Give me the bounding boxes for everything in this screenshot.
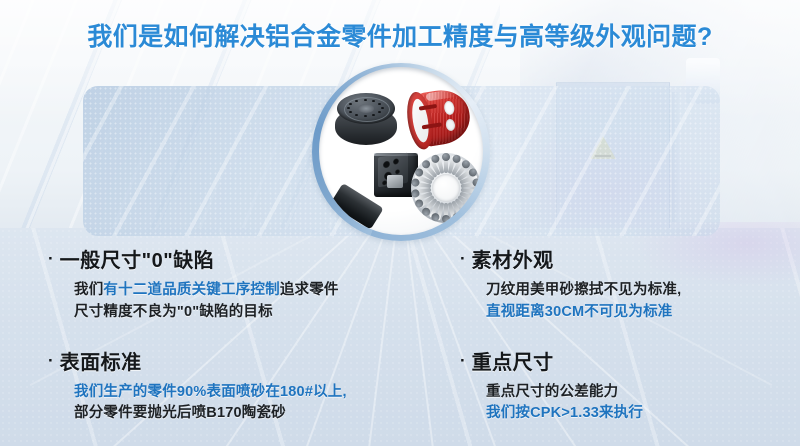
content-block: ·重点尺寸重点尺寸的公差能力我们按CPK>1.33来执行 — [460, 346, 800, 426]
content-block: ·表面标准我们生产的零件90%表面喷砂在180#以上,部分零件要抛光后喷B170… — [48, 346, 408, 426]
block-body-text: 重点尺寸的公差能力我们按CPK>1.33来执行 — [486, 382, 800, 426]
body-line: 我们按CPK>1.33来执行 — [486, 403, 800, 425]
block-heading: 重点尺寸 — [472, 346, 554, 375]
content-block: ·一般尺寸"0"缺陷我们有十二道品质关键工序控制追求零件尺寸精度不良为"0"缺陷… — [48, 244, 408, 324]
text-segment: 刀纹用美甲砂擦拭不见为标准, — [486, 282, 681, 298]
body-line: 部分零件要抛光后喷B170陶瓷砂 — [74, 403, 408, 425]
circle-photo-area — [319, 67, 483, 235]
block-heading: 表面标准 — [60, 346, 142, 375]
left-column: ·一般尺寸"0"缺陷我们有十二道品质关键工序控制追求零件尺寸精度不良为"0"缺陷… — [48, 244, 408, 439]
body-line: 我们有十二道品质关键工序控制追求零件 — [74, 280, 408, 302]
text-segment: 部分零件要抛光后喷B170陶瓷砂 — [74, 405, 286, 421]
block-heading-row: ·表面标准 — [48, 346, 408, 375]
content-columns: ·一般尺寸"0"缺陷我们有十二道品质关键工序控制追求零件尺寸精度不良为"0"缺陷… — [0, 244, 800, 444]
text-segment: 我们按CPK>1.33来执行 — [486, 405, 643, 421]
block-heading-row: ·素材外观 — [460, 244, 800, 273]
block-body-text: 我们生产的零件90%表面喷砂在180#以上,部分零件要抛光后喷B170陶瓷砂 — [74, 382, 408, 426]
product-photo-circle — [312, 63, 490, 241]
text-segment: 追求零件 — [280, 282, 339, 298]
text-segment: 尺寸精度不良为"0"缺陷的目标 — [74, 304, 273, 320]
body-line: 尺寸精度不良为"0"缺陷的目标 — [74, 302, 408, 324]
block-body-text: 我们有十二道品质关键工序控制追求零件尺寸精度不良为"0"缺陷的目标 — [74, 280, 408, 324]
bullet-icon: · — [460, 352, 466, 369]
part-dark-grey-round-housing — [335, 93, 397, 147]
right-column: ·素材外观刀纹用美甲砂擦拭不见为标准,直视距离30CM不可见为标准·重点尺寸重点… — [460, 244, 800, 439]
block-heading-row: ·一般尺寸"0"缺陷 — [48, 244, 408, 273]
part-finned-aluminum-ring — [411, 153, 481, 223]
block-heading: 一般尺寸"0"缺陷 — [60, 244, 215, 273]
bullet-icon: · — [48, 352, 54, 369]
part-red-anodized-tube — [400, 84, 475, 156]
body-line: 我们生产的零件90%表面喷砂在180#以上, — [74, 382, 408, 404]
block-heading: 素材外观 — [472, 244, 554, 273]
content-block: ·素材外观刀纹用美甲砂擦拭不见为标准,直视距离30CM不可见为标准 — [460, 244, 800, 324]
body-line: 直视距离30CM不可见为标准 — [486, 302, 800, 324]
body-line: 重点尺寸的公差能力 — [486, 382, 800, 404]
block-heading-row: ·重点尺寸 — [460, 346, 800, 375]
block-body-text: 刀纹用美甲砂擦拭不见为标准,直视距离30CM不可见为标准 — [486, 280, 800, 324]
bullet-icon: · — [48, 250, 54, 267]
text-segment: 重点尺寸的公差能力 — [486, 384, 618, 400]
text-segment: 有十二道品质关键工序控制 — [103, 282, 279, 298]
body-line: 刀纹用美甲砂擦拭不见为标准, — [486, 280, 800, 302]
text-segment: 我们 — [74, 282, 103, 298]
page-title: 我们是如何解决铝合金零件加工精度与高等级外观问题? — [0, 17, 800, 53]
slide-canvas: 我们是如何解决铝合金零件加工精度与高等级外观问题? — [0, 0, 800, 446]
bullet-icon: · — [460, 250, 466, 267]
text-segment: 我们生产的零件90%表面喷砂在180#以上, — [74, 384, 347, 400]
text-segment: 直视距离30CM不可见为标准 — [486, 304, 672, 320]
